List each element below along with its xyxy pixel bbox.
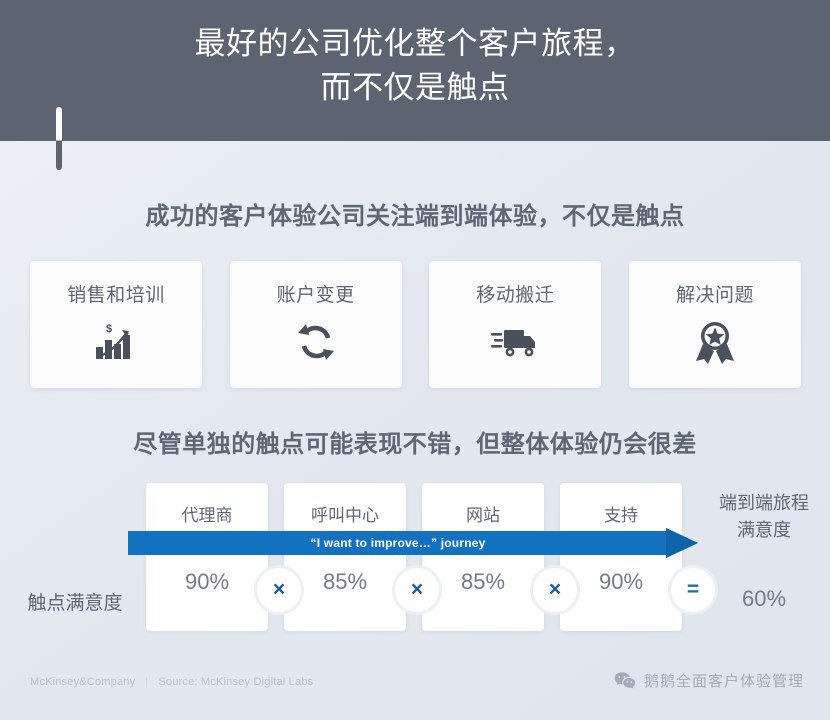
multiply-operator-icon: × <box>533 568 577 612</box>
bar-chart-growth-icon: $ <box>91 319 141 365</box>
journey-step-label: 网站 <box>422 501 544 526</box>
page-title: 最好的公司优化整个客户旅程， 而不仅是触点 <box>0 22 830 110</box>
touchpoint-card-row: 销售和培训 $ 账户变更 <box>30 261 801 388</box>
card-label: 解决问题 <box>676 280 754 307</box>
slide-root: 最好的公司优化整个客户旅程， 而不仅是触点 成功的客户体验公司关注端到端体验，不… <box>0 0 830 720</box>
end-to-end-label: 端到端旅程 满意度 <box>700 490 828 544</box>
touchpoint-card[interactable]: 移动搬迁 <box>429 261 601 388</box>
journey-step-value: 85% <box>284 569 406 595</box>
journey-step-value: 85% <box>422 569 544 595</box>
journey-step-value: 90% <box>560 569 682 595</box>
journey-step-label: 支持 <box>560 501 682 526</box>
multiply-operator-icon: × <box>257 568 301 612</box>
refresh-cycle-icon <box>291 319 341 365</box>
end-to-end-value: 60% <box>700 586 828 612</box>
journey-step-value: 90% <box>146 569 268 595</box>
equals-operator-icon: = <box>671 568 715 612</box>
svg-text:$: $ <box>106 323 112 335</box>
award-ribbon-icon <box>690 319 740 365</box>
touchpoints-heading: 成功的客户体验公司关注端到端体验，不仅是触点 <box>0 196 830 231</box>
journey-step-label: 呼叫中心 <box>284 501 406 526</box>
footer-brand: McKinsey&Company <box>30 676 135 688</box>
touchpoint-card[interactable]: 账户变更 <box>230 261 402 388</box>
accent-bar <box>56 107 62 170</box>
wechat-icon <box>614 671 636 691</box>
delivery-truck-icon <box>490 319 540 365</box>
card-label: 销售和培训 <box>67 280 165 307</box>
journey-arrow-label: “I want to improve…” journey <box>128 528 668 558</box>
journey-step-label: 代理商 <box>146 501 268 526</box>
multiply-operator-icon: × <box>395 568 439 612</box>
journey-arrow: “I want to improve…” journey <box>128 528 698 558</box>
header-banner: 最好的公司优化整个客户旅程， 而不仅是触点 <box>0 0 830 141</box>
journey-heading: 尽管单独的触点可能表现不错，但整体体验仍会很差 <box>0 424 830 459</box>
footer-source: Source: McKinsey Digital Labs <box>158 676 313 688</box>
card-label: 账户变更 <box>277 280 355 307</box>
card-label: 移动搬迁 <box>476 280 554 307</box>
footer: McKinsey&Company | Source: McKinsey Digi… <box>30 676 313 688</box>
watermark: 鹅鹅全面客户体验管理 <box>614 670 804 691</box>
footer-divider: | <box>145 676 148 688</box>
touchpoint-card[interactable]: 解决问题 <box>629 261 801 388</box>
touchpoint-card[interactable]: 销售和培训 $ <box>30 261 202 388</box>
watermark-text: 鹅鹅全面客户体验管理 <box>644 670 804 691</box>
